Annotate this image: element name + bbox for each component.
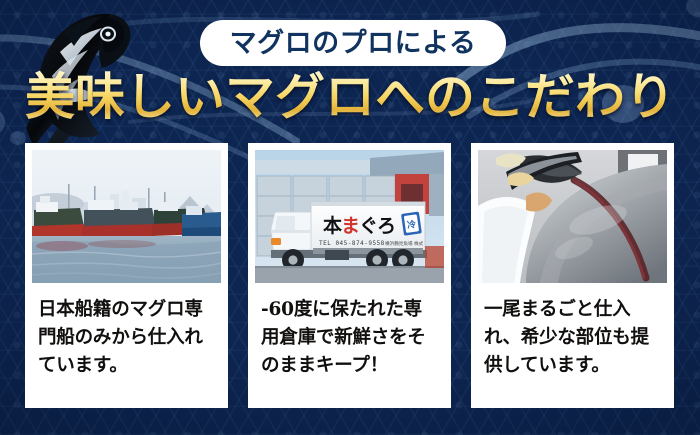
svg-text:本: 本 [323, 214, 342, 237]
svg-text:TEL 045-874-9558: TEL 045-874-9558 [319, 240, 385, 247]
promotional-banner: マグロのプロによる 美味しいマグロへのこだわり [0, 0, 700, 435]
svg-text:ぐ: ぐ [359, 215, 378, 237]
feature-caption: 一尾まるごと仕入れ、希少な部位も提供しています。 [478, 283, 667, 408]
feature-caption: -60度に保たれた専用倉庫で新鮮さをそのままキープ！ [255, 283, 444, 408]
feature-card: 本 ま ぐ ろ 冷 TEL 045-874-9558 横浜鶴見魚場 株式 [248, 143, 451, 408]
header-pill-label: マグロのプロによる [230, 30, 477, 57]
svg-text:ろ: ろ [377, 215, 396, 237]
feature-card: 一尾まるごと仕入れ、希少な部位も提供しています。 [471, 143, 674, 408]
header-pill-badge: マグロのプロによる [200, 20, 506, 66]
feature-caption: 日本船籍のマグロ専門船のみから仕入れています。 [32, 283, 221, 408]
refrigerated-truck-photo: 本 ま ぐ ろ 冷 TEL 045-874-9558 横浜鶴見魚場 株式 [255, 150, 444, 283]
whole-tuna-cutting-photo [478, 150, 667, 283]
page-title: 美味しいマグロへのこだわり [0, 70, 700, 124]
svg-text:ま: ま [341, 215, 360, 237]
svg-text:横浜鶴見魚場 株式: 横浜鶴見魚場 株式 [385, 240, 424, 247]
feature-card: 日本船籍のマグロ専門船のみから仕入れています。 [25, 143, 228, 408]
fishing-boats-harbor-photo [32, 150, 221, 283]
